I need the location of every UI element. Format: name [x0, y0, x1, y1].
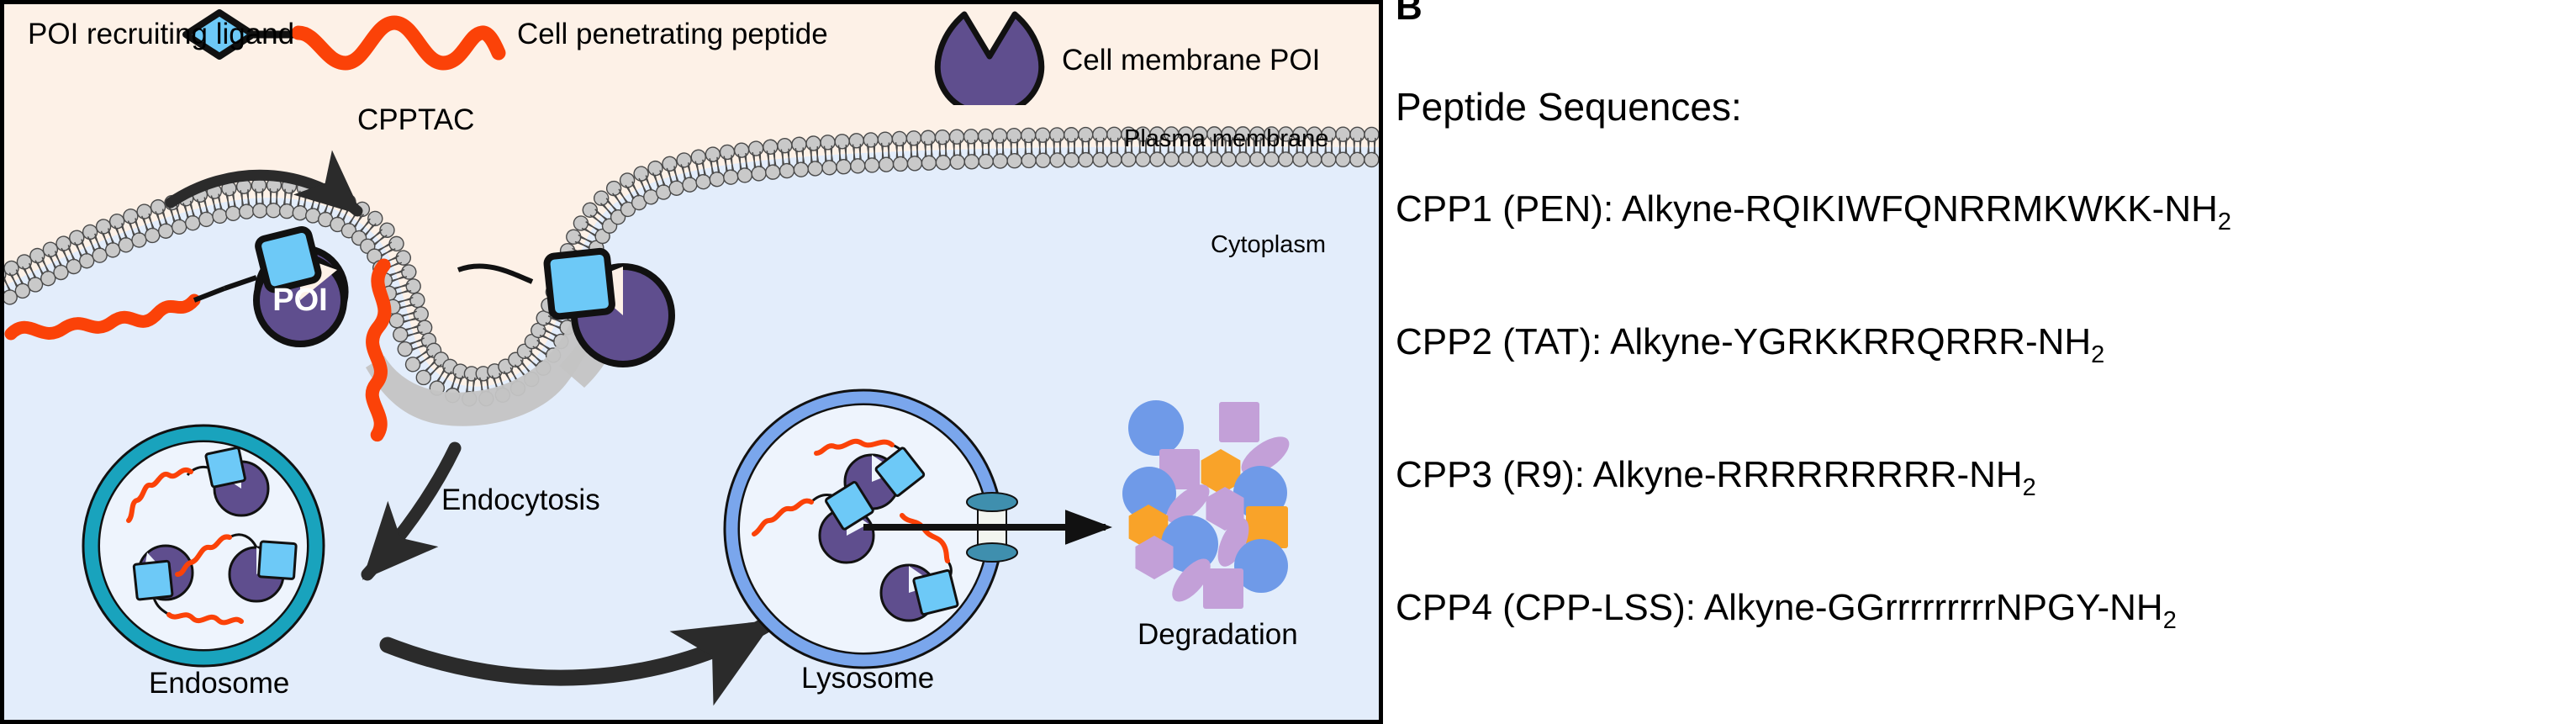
sequence-residues: RRRRRRRRR	[1716, 454, 1956, 495]
lysosome-label: Lysosome	[801, 662, 934, 695]
sequence-residues: RQIKIWFQNRRMKWKK	[1745, 188, 2152, 230]
sequence-name: CPP2 (TAT):	[1396, 321, 1602, 362]
sequence-terminus: -NH	[2025, 321, 2091, 362]
sequence-terminus: -NH	[2152, 188, 2218, 230]
sequence-terminus: -NH	[2097, 587, 2162, 628]
legend-label-membrane-poi: Cell membrane POI	[1062, 44, 1320, 77]
ligand-square-pit	[546, 251, 613, 317]
sequence-prefix: Alkyne-	[1704, 587, 1828, 628]
sequence-subscript: 2	[2163, 607, 2177, 634]
sequence-row: CPP2 (TAT): Alkyne-YGRKKRRQRRR-NH2	[1396, 321, 2104, 369]
sequence-prefix: Alkyne-	[1593, 454, 1717, 495]
panel-a-diagram: POI	[0, 0, 1383, 724]
legend-label-peptide: Cell penetrating peptide	[517, 18, 828, 51]
cytoplasm-label: Cytoplasm	[1211, 231, 1326, 259]
endosome	[83, 425, 324, 666]
sequence-row: CPP4 (CPP-LSS): Alkyne-GGrrrrrrrrrNPGY-N…	[1396, 587, 2177, 635]
sequence-prefix: Alkyne-	[1622, 188, 1745, 230]
construct-label: CPPTAC	[357, 103, 474, 137]
degradation-particle-square	[1203, 568, 1243, 609]
sequence-terminus: -NH	[1956, 454, 2022, 495]
sequence-name: CPP3 (R9):	[1396, 454, 1585, 495]
poi-label-text: POI	[272, 283, 327, 318]
sequence-name: CPP1 (PEN):	[1396, 188, 1613, 230]
figure-root: POI	[0, 0, 2576, 724]
sequence-name: CPP4 (CPP-LSS):	[1396, 587, 1696, 628]
degradation-label: Degradation	[1138, 618, 1298, 652]
endocytosis-label: Endocytosis	[441, 484, 600, 517]
sequence-row: CPP3 (R9): Alkyne-RRRRRRRRR-NH2	[1396, 454, 2036, 502]
sequence-residues: YGRKKRRQRRR	[1734, 321, 2025, 362]
legend-label-ligand: POI recruiting ligand	[28, 18, 294, 51]
endosome-label: Endosome	[149, 667, 289, 700]
degradation-particle-square	[1219, 402, 1259, 442]
panel-b-title: Peptide Sequences:	[1396, 84, 1742, 129]
sequence-residues: GGrrrrrrrrrNPGY	[1828, 587, 2098, 628]
sequence-subscript: 2	[2023, 474, 2036, 501]
sequence-prefix: Alkyne-	[1610, 321, 1734, 362]
degradation-particle-circle	[1128, 400, 1184, 456]
plasma-membrane-label: Plasma membrane	[1124, 125, 1328, 153]
panel-b-sequences: B Peptide Sequences: CPP1 (PEN): Alkyne-…	[1396, 0, 2576, 724]
sequence-row: CPP1 (PEN): Alkyne-RQIKIWFQNRRMKWKK-NH2	[1396, 188, 2231, 236]
ligand-square-left	[256, 228, 319, 291]
mechanism-illustration: POI	[4, 4, 1383, 724]
panel-b-tag: B	[1396, 0, 1423, 29]
sequence-subscript: 2	[2218, 209, 2231, 235]
sequence-subscript: 2	[2091, 341, 2104, 368]
